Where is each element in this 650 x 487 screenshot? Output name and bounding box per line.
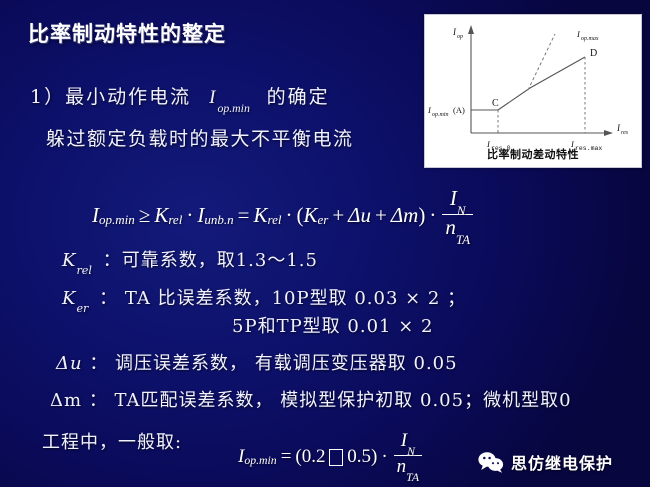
eq-fraction-numerator: IN bbox=[447, 187, 469, 214]
brand-logo-text: 思仿继电保护 bbox=[511, 450, 613, 474]
eq-bot-dot: · bbox=[377, 446, 391, 468]
eq-plus-2: + bbox=[371, 203, 391, 228]
y-axis-label-sub: op bbox=[457, 34, 463, 40]
x-axis-arrow bbox=[604, 130, 613, 136]
param-delta-m-text: ： TA匹配误差系数， 模拟型保护初取 0.05；微机型取0 bbox=[89, 390, 572, 411]
eq-dot-3: · bbox=[425, 203, 440, 228]
eq-dot-2: · bbox=[281, 203, 296, 228]
eq-bot-fraction: IN nTA bbox=[394, 431, 422, 480]
param-krel-text: ：可靠系数，取1.3～1.5 bbox=[103, 250, 318, 271]
eq-krel-1: K bbox=[154, 203, 168, 228]
param-delta-u-symbol: Δu bbox=[56, 353, 83, 374]
eq-iunb-sub: unb.n bbox=[204, 212, 233, 228]
eq-ker-sub: er bbox=[317, 212, 328, 228]
param-krel-line: Krel ：可靠系数，取1.3～1.5 bbox=[62, 246, 318, 274]
eq-lhs-subscript: op.min bbox=[99, 212, 135, 228]
restraint-slope-line bbox=[498, 57, 585, 110]
point-d-label: D bbox=[590, 48, 597, 59]
eq-krel-2: K bbox=[253, 203, 267, 228]
bottom-equation: Iop.min = ( 0.2 0.5 ) · IN nTA bbox=[238, 432, 424, 481]
eq-fraction: IN nTA bbox=[442, 187, 473, 242]
eq-fraction-denominator: nTA bbox=[442, 215, 473, 242]
percentage-restraint-characteristic-figure: I op I res I op.min (A) C D I op.max I r… bbox=[424, 14, 642, 168]
y-threshold-unit: (A) bbox=[453, 105, 465, 115]
eq-krel-2-sub: rel bbox=[267, 212, 281, 228]
eq-krel-1-sub: rel bbox=[168, 212, 182, 228]
eq-bot-value-high: 0.5 bbox=[347, 446, 371, 468]
figure-caption: 比率制动差动特性 bbox=[425, 146, 641, 162]
eq-bot-value-low: 0.2 bbox=[302, 446, 326, 468]
wechat-icon bbox=[478, 451, 504, 473]
bullet-item-2: 躲过额定负载时的最大不平衡电流 bbox=[46, 124, 354, 151]
param-ker-line: Ker ： TA 比误差系数，10P型取 0.03 × 2 ； bbox=[62, 284, 466, 312]
param-krel-subscript: rel bbox=[76, 264, 92, 277]
param-delta-m-line: Δm ： TA匹配误差系数， 模拟型保护初取 0.05；微机型取0 bbox=[50, 386, 572, 412]
top-label-sub: op.max bbox=[581, 36, 599, 42]
eq-delta-u: Δu bbox=[348, 203, 371, 228]
main-equation: Iop.min ≥ Krel · Iunb.n = Krel · ( Ker +… bbox=[92, 188, 475, 243]
eq-bot-equals: = bbox=[277, 446, 296, 468]
x-axis-label-sub: res bbox=[621, 130, 629, 136]
eq-plus-1: + bbox=[328, 203, 348, 228]
bullet-item-1: 1）最小动作电流 Iop.min 的确定 bbox=[30, 82, 330, 112]
characteristic-chart-svg: I op I res I op.min (A) C D I op.max I r… bbox=[425, 15, 641, 167]
brand-logo: 思仿继电保护 bbox=[478, 450, 613, 474]
point-c-label: C bbox=[492, 98, 499, 109]
bullet-item-1-prefix: 1）最小动作电流 bbox=[30, 86, 191, 108]
eq-bot-fraction-denominator: nTA bbox=[394, 456, 422, 480]
eq-bot-missing-glyph bbox=[329, 449, 343, 466]
y-threshold-label-sub: op.min bbox=[432, 112, 449, 118]
bullet-item-1-symbol-sub: op.min bbox=[217, 102, 249, 115]
eq-close-paren: ) bbox=[418, 203, 425, 228]
page-title: 比率制动特性的整定 bbox=[28, 18, 226, 48]
engineering-note: 工程中，一般取: bbox=[42, 428, 182, 454]
eq-delta-m: Δm bbox=[391, 203, 419, 228]
eq-bot-lhs-subscript: op.min bbox=[244, 454, 276, 468]
param-krel-symbol: K bbox=[62, 250, 76, 271]
param-ker-subscript: er bbox=[76, 302, 88, 315]
param-ker-text: ： TA 比误差系数，10P型取 0.03 × 2 ； bbox=[99, 288, 466, 309]
param-ker-symbol: K bbox=[62, 288, 76, 309]
eq-dot-1: · bbox=[182, 203, 197, 228]
param-delta-m-symbol: Δm bbox=[50, 390, 82, 411]
eq-lhs-symbol: I bbox=[92, 203, 99, 228]
presentation-slide: 比率制动特性的整定 1）最小动作电流 Iop.min 的确定 躲过额定负载时的最… bbox=[0, 0, 650, 487]
eq-ge-operator: ≥ bbox=[135, 203, 155, 228]
eq-bot-fraction-numerator: IN bbox=[398, 431, 418, 455]
bullet-item-1-suffix: 的确定 bbox=[267, 86, 330, 108]
param-ker-line-2: 5P和TP型取 0.01 × 2 bbox=[232, 312, 433, 338]
param-delta-u-text: ： 调压误差系数， 有载调压变压器取 0.05 bbox=[89, 353, 457, 374]
eq-equals: = bbox=[234, 203, 254, 228]
eq-ker: K bbox=[303, 203, 317, 228]
y-axis-arrow bbox=[468, 25, 474, 34]
param-delta-u-line: Δu ： 调压误差系数， 有载调压变压器取 0.05 bbox=[56, 349, 458, 375]
